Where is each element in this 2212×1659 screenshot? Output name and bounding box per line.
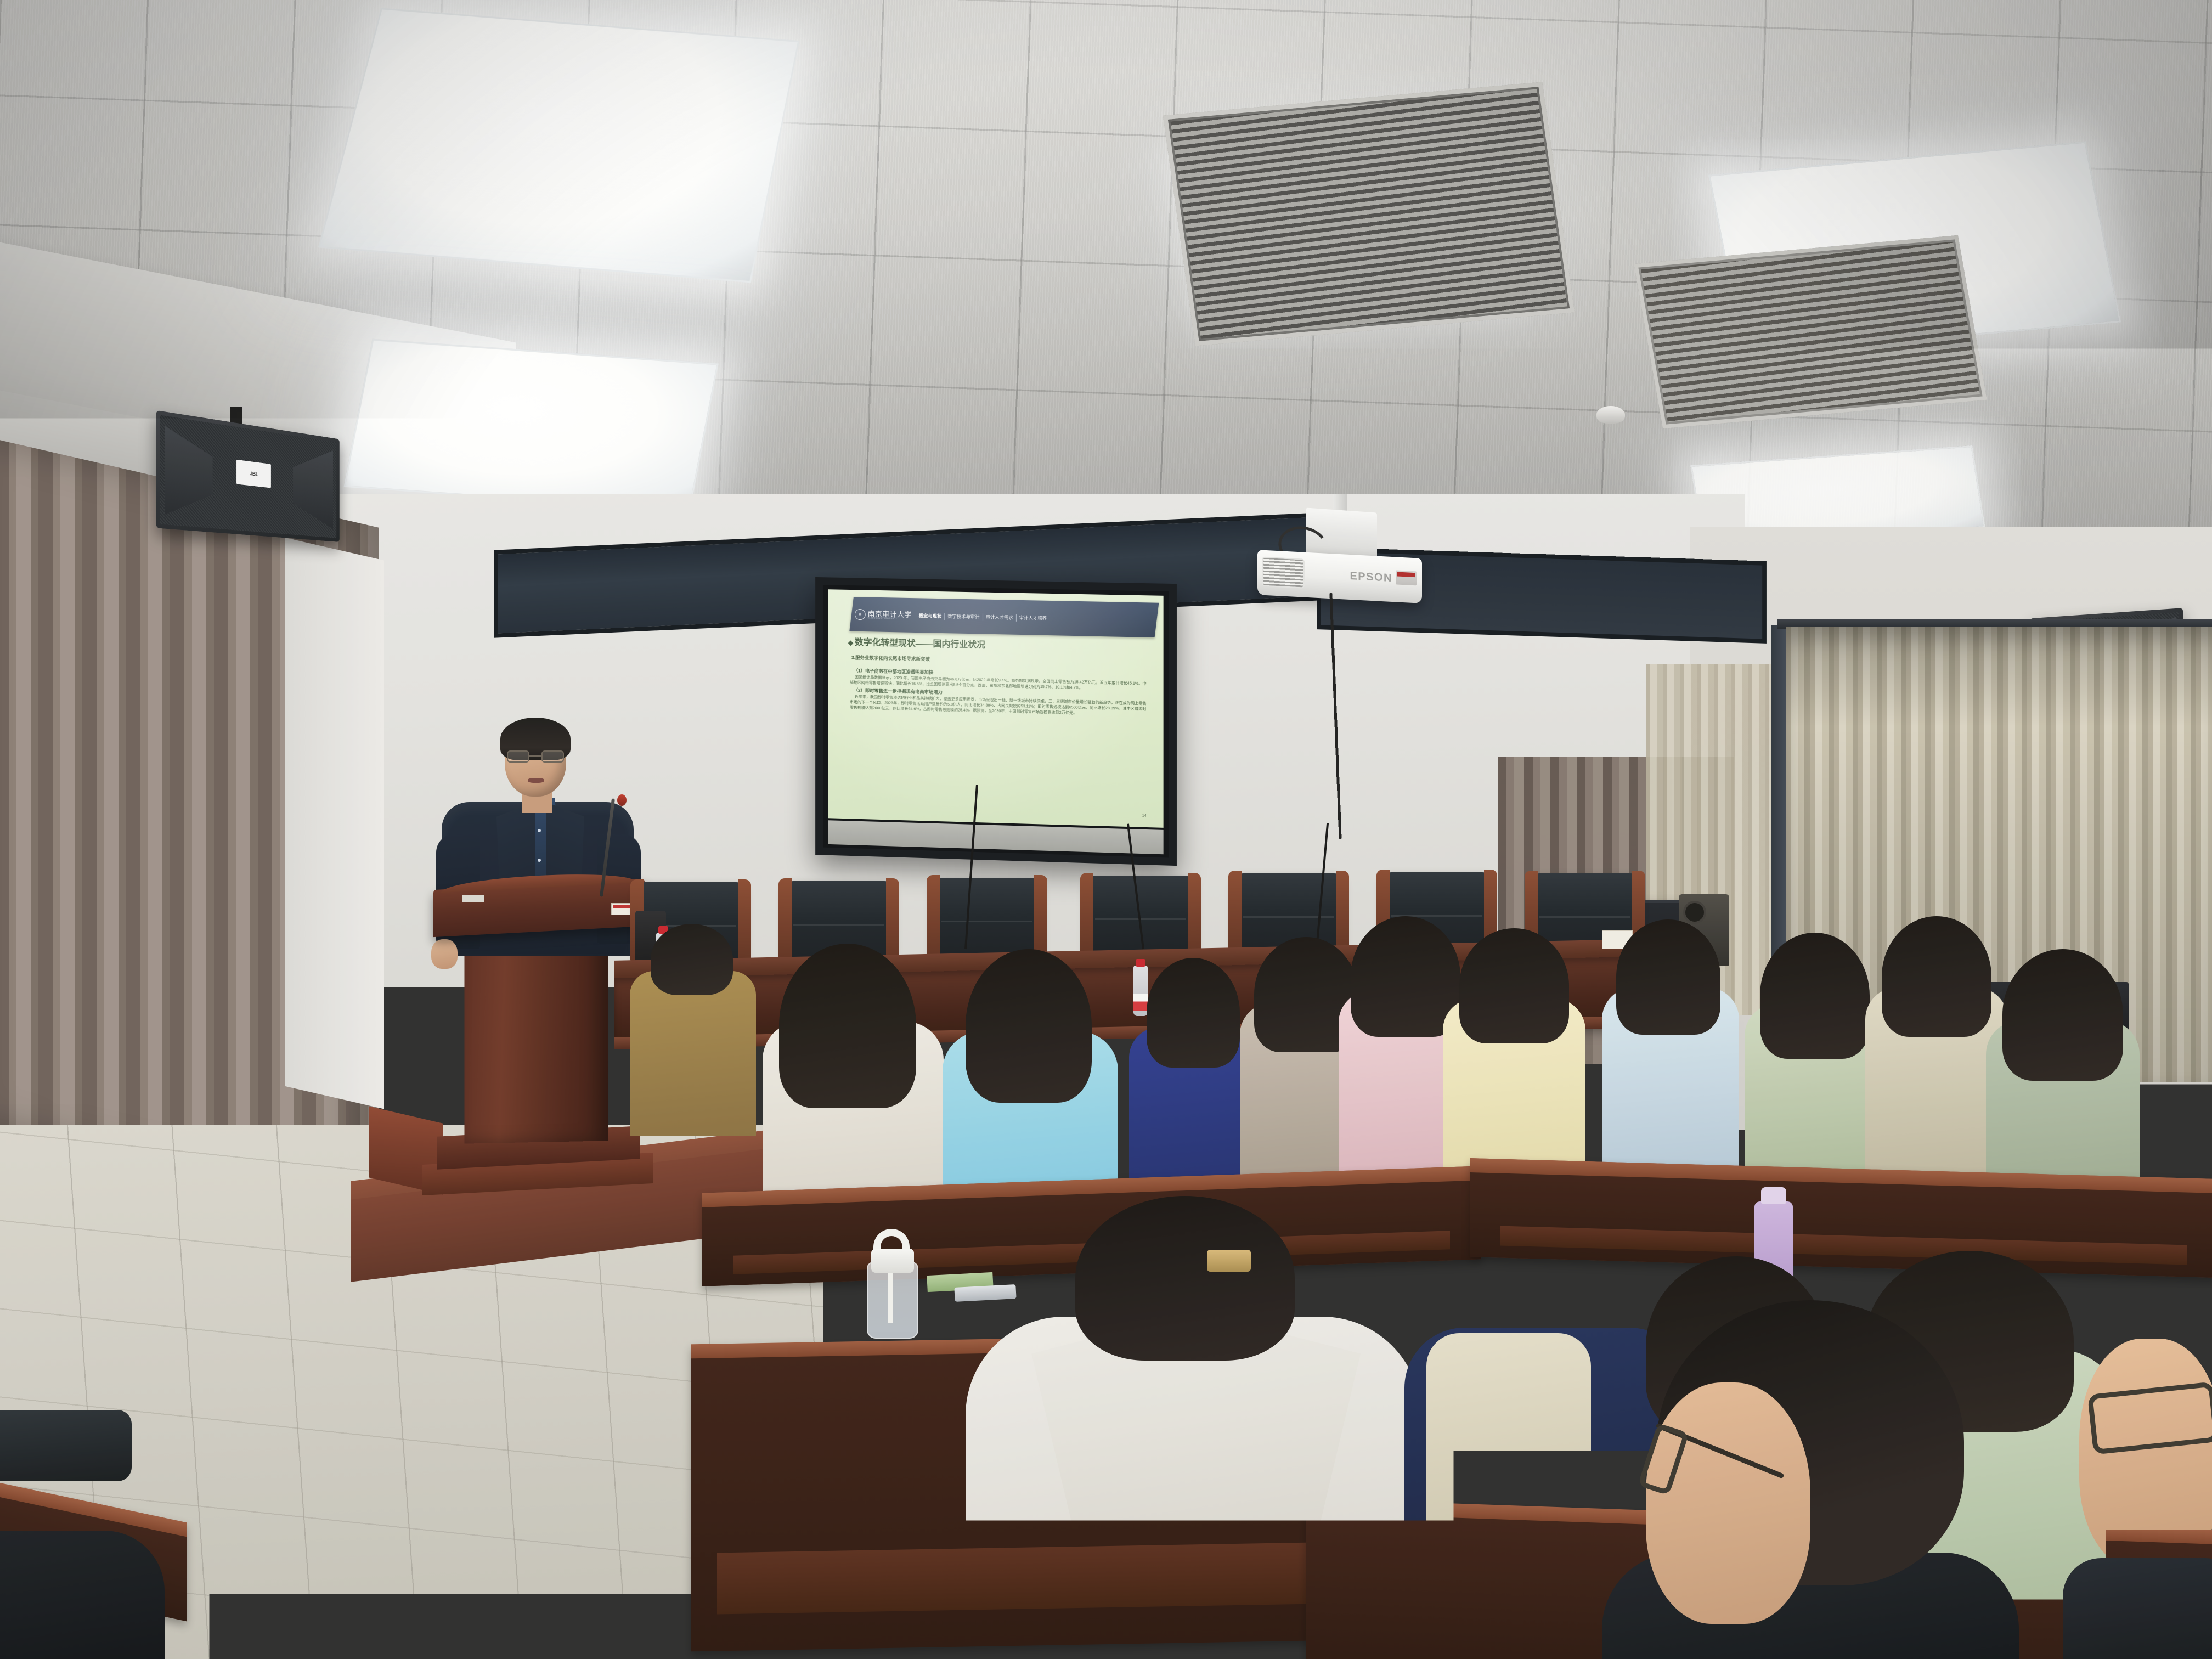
air-vent-icon — [1163, 82, 1575, 346]
slide-subtitle: 3.服务业数字化向长尾市场寻求新突破 — [851, 654, 930, 662]
slide-nav-tabs: 概念与现状 数字技术与审计 审计人才需求 审计人才培养 — [916, 612, 1154, 624]
attendee-hair — [966, 949, 1092, 1103]
attendee-hair — [1459, 928, 1569, 1043]
bottled-water-pack — [180, 996, 262, 1046]
slide-surface: ❋ 南京审计大学 NANJING AUDIT UNIVERSITY 概念与现状 … — [828, 589, 1164, 828]
projector-icon: EPSON — [1257, 550, 1422, 603]
empty-chair[interactable] — [0, 1256, 148, 1322]
hair-clip-icon — [1207, 1250, 1251, 1272]
attendee-head — [1646, 1383, 1810, 1624]
slide-title: ◆数字化转型现状——国内行业状况 — [848, 634, 985, 650]
attendee-hair — [1147, 958, 1240, 1068]
projector-badge — [1396, 570, 1417, 585]
white-sport-bottle — [859, 1229, 925, 1339]
slide-tab-0: 概念与现状 — [916, 612, 944, 619]
smartphone[interactable] — [954, 1284, 1016, 1302]
attendee-hair — [1351, 916, 1460, 1037]
eyeglasses-icon — [2087, 1381, 2212, 1454]
attendee-hair — [1760, 933, 1870, 1059]
left-wall — [285, 538, 384, 1109]
attendee-hair — [779, 944, 916, 1108]
attendee-body — [2063, 1558, 2212, 1659]
bottle-straw — [888, 1273, 893, 1323]
graphic-hoodie-text: imagination imagination imagination imag… — [0, 1083, 164, 1241]
attendee-hair — [1616, 919, 1720, 1035]
attendee-hair — [651, 924, 733, 995]
projector-vent-grille — [1262, 557, 1305, 589]
attendee-body — [0, 1531, 165, 1659]
slide-header-bar: ❋ 南京审计大学 NANJING AUDIT UNIVERSITY 概念与现状 … — [849, 597, 1159, 637]
attendee-head — [2079, 1339, 2212, 1569]
bottled-water — [1133, 966, 1148, 1016]
lecture-hall-scene: JBL JBL EPSON ❋ 南京审计大学 NANJING AUDIT UNI… — [0, 0, 2212, 1659]
lectern-control-label — [462, 895, 484, 902]
jbl-logo: JBL — [236, 460, 271, 488]
bottle-cap — [871, 1249, 914, 1273]
presenter-mouth — [528, 778, 544, 783]
eyeglasses-icon — [507, 751, 564, 763]
executive-chair[interactable] — [1086, 876, 1195, 958]
ceiling-light-panel — [318, 8, 799, 283]
presenter-hand — [431, 939, 458, 969]
air-vent-icon — [1634, 235, 1987, 428]
university-seal-icon: ❋ — [855, 608, 866, 619]
projection-screen[interactable]: ❋ 南京审计大学 NANJING AUDIT UNIVERSITY 概念与现状 … — [815, 577, 1177, 866]
slide-body: （1）电子商务在中部地区渗透明显加快 国家统计局数据显示，2023 年，我国电子… — [850, 665, 1147, 718]
slide-title-text: 数字化转型现状——国内行业状况 — [855, 638, 985, 650]
slide-tab-2: 审计人才需求 — [983, 613, 1015, 620]
slide-tab-1: 数字技术与审计 — [945, 612, 982, 619]
audience-desk — [1470, 1158, 2212, 1278]
executive-chair[interactable] — [933, 878, 1041, 960]
attendee-hair — [1075, 1196, 1295, 1361]
smoke-detector-icon — [1596, 406, 1625, 424]
slide-tab-3: 审计人才培养 — [1017, 614, 1049, 621]
attendee-hair — [1882, 916, 1991, 1037]
slide-page-number: 14 — [1142, 814, 1147, 818]
empty-chair[interactable] — [0, 1410, 132, 1481]
ceiling-light-panel — [343, 339, 719, 512]
attendee-body — [630, 971, 756, 1136]
projector-brand-label: EPSON — [1350, 570, 1392, 585]
slide-title-bullet: ◆ — [848, 639, 853, 646]
microphone-head-icon — [617, 794, 627, 806]
attendee-hair — [2002, 949, 2123, 1081]
university-name: 南京审计大学 NANJING AUDIT UNIVERSITY — [868, 610, 912, 619]
